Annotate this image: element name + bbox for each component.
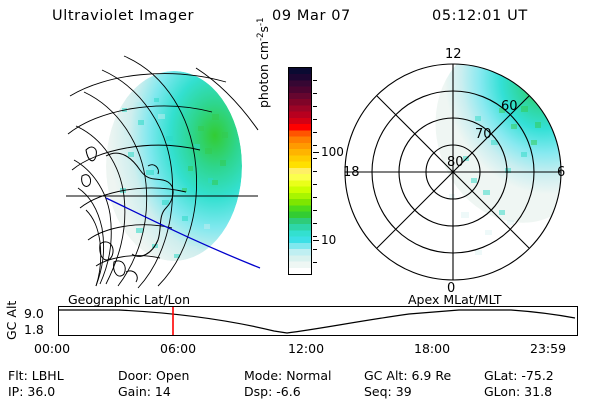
colorbar-major-tick <box>313 152 319 153</box>
orbit-title-apex: Apex MLat/MLT <box>408 292 502 307</box>
status-ip: IP: 36.0 <box>8 384 55 399</box>
time-tick-3: 18:00 <box>414 341 450 356</box>
colorbar-minor-tick <box>313 80 317 81</box>
colorbar-minor-tick <box>313 184 317 185</box>
status-door: Door: Open <box>118 368 189 383</box>
mlt-label-18: 18 <box>343 165 360 180</box>
colorbar-minor-tick <box>313 210 317 211</box>
colorbar-minor-tick <box>313 158 317 159</box>
colorbar-minor-tick <box>313 132 317 133</box>
status-mode: Mode: Normal <box>244 368 331 383</box>
time-tick-0: 00:00 <box>34 341 70 356</box>
status-flt: Flt: LBHL <box>8 368 64 383</box>
colorbar-minor-tick <box>313 119 317 120</box>
colorbar-axis-label: photon cm-2s-1 <box>256 18 271 108</box>
colorbar-tick-label-1: 10 <box>321 234 336 246</box>
colorbar-minor-tick <box>313 93 317 94</box>
status-dsp: Dsp: -6.6 <box>244 384 301 399</box>
orbit-altitude-plot <box>58 306 578 336</box>
colorbar-gradient <box>288 67 312 275</box>
observation-date: 09 Mar 07 <box>272 8 351 24</box>
orbit-altitude-curve <box>59 310 575 333</box>
mlt-label-6: 6 <box>557 165 565 180</box>
apex-polar-plot: 12 6 0 18 60 70 80 <box>335 44 585 294</box>
colorbar-minor-tick <box>313 171 317 172</box>
colorbar-minor-tick <box>313 197 317 198</box>
status-glat: GLat: -75.2 <box>484 368 554 383</box>
observation-time: 05:12:01 UT <box>432 8 528 24</box>
time-tick-1: 06:00 <box>160 341 196 356</box>
colorbar-minor-tick <box>313 262 317 263</box>
colorbar-minor-tick <box>313 145 317 146</box>
mlt-spokes <box>345 64 561 280</box>
time-tick-2: 12:00 <box>288 341 324 356</box>
status-glon: GLon: 31.8 <box>484 384 552 399</box>
mlat-label-70: 70 <box>475 127 492 142</box>
mlat-label-80: 80 <box>447 155 464 170</box>
status-gain: Gain: 14 <box>118 384 171 399</box>
instrument-title: Ultraviolet Imager <box>52 8 194 24</box>
orbit-ytick-high: 9.0 <box>24 308 44 321</box>
status-seq: Seq: 39 <box>364 384 412 399</box>
orbit-ytick-low: 1.8 <box>24 324 44 337</box>
colorbar-minor-tick <box>313 249 317 250</box>
orbit-title-geographic: Geographic Lat/Lon <box>68 292 190 307</box>
orbit-y-axis-label: GC Alt <box>4 300 19 340</box>
geographic-globe-plot <box>62 48 262 293</box>
mlt-label-12: 12 <box>445 47 462 62</box>
status-gc-alt: GC Alt: 6.9 Re <box>364 368 451 383</box>
colorbar: photon cm-2s-1 10010 <box>268 62 328 284</box>
cb-label-exp2: -1 <box>256 18 266 26</box>
mlat-label-60: 60 <box>501 99 518 114</box>
cb-label-exp1: -2 <box>256 33 266 41</box>
cb-label-prefix: photon cm <box>256 41 271 108</box>
colorbar-minor-tick <box>313 236 317 237</box>
colorbar-minor-tick <box>313 223 317 224</box>
cb-label-mid: s <box>256 26 271 33</box>
colorbar-minor-tick <box>313 106 317 107</box>
colorbar-major-tick <box>313 240 319 241</box>
time-tick-4: 23:59 <box>530 341 566 356</box>
